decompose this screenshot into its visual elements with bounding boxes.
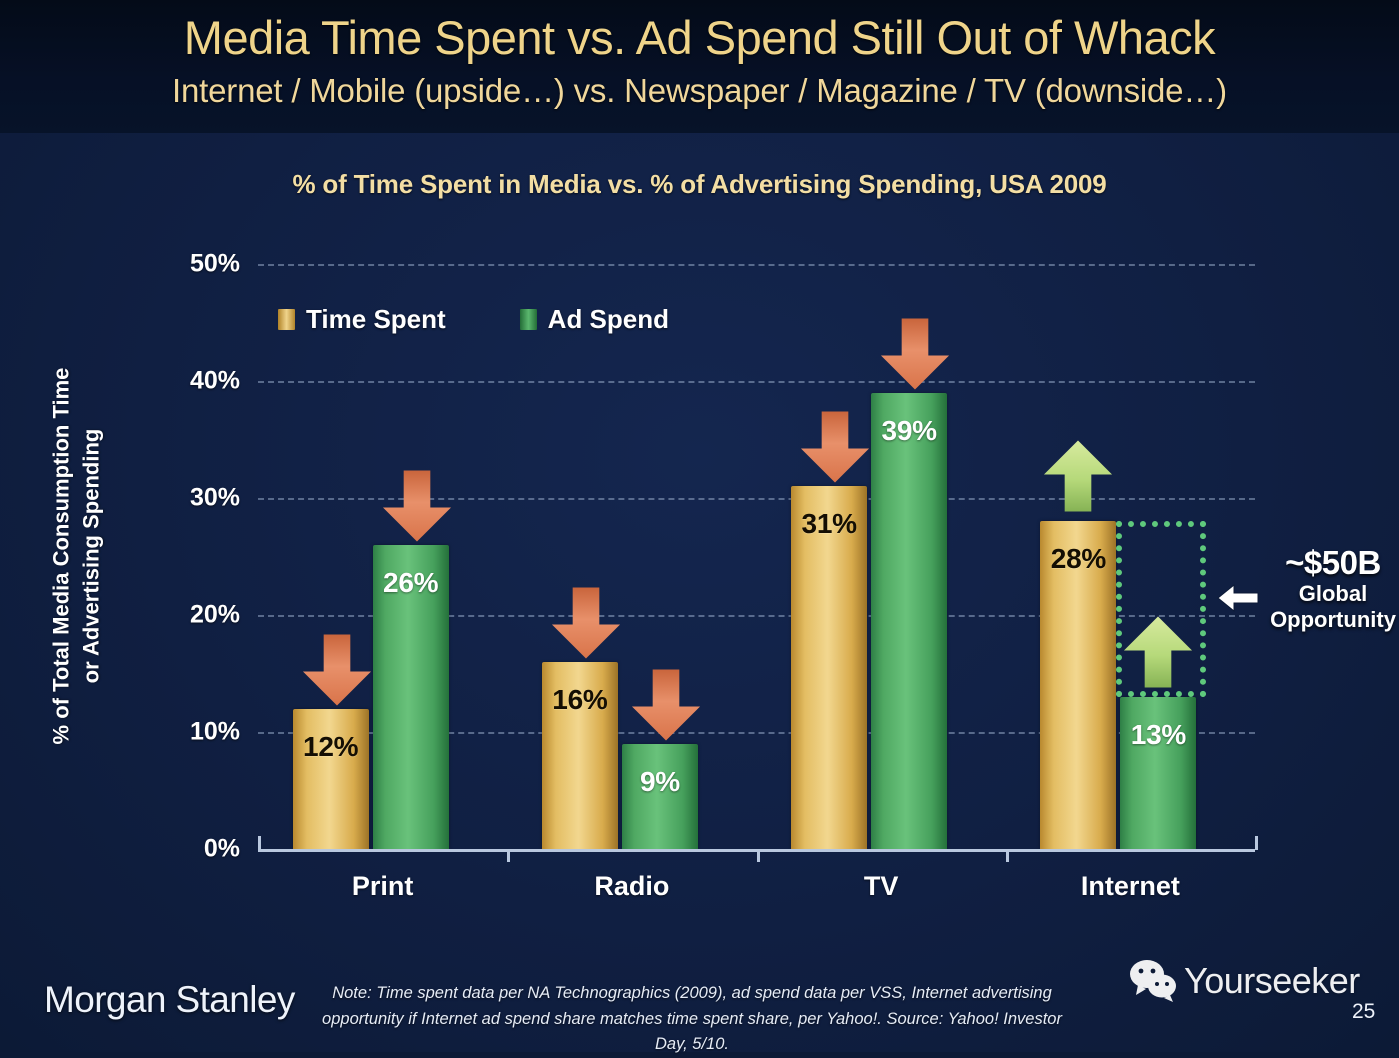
footnote-line-2: spend share matches time spent share, pe…: [505, 1010, 1062, 1054]
slide-title: Media Time Spent vs. Ad Spend Still Out …: [0, 12, 1399, 65]
legend-swatch-time-spent: [278, 309, 295, 330]
morgan-stanley-logo: Morgan Stanley: [44, 979, 295, 1021]
slide-subtitle: Internet / Mobile (upside…) vs. Newspape…: [0, 72, 1399, 110]
x-axis-label-print: Print: [352, 871, 414, 902]
callout-left-arrow-icon: [1216, 581, 1260, 620]
callout-amount: ~$50B: [1258, 546, 1399, 581]
y-tick-label-10: 10%: [120, 718, 240, 747]
chart-title: % of Time Spent in Media vs. % of Advert…: [0, 169, 1399, 200]
x-axis-tick: [1006, 849, 1009, 862]
bar-value-label: 26%: [373, 567, 449, 599]
legend-item-time-spent: Time Spent: [278, 304, 446, 335]
gridline-50: [258, 264, 1255, 266]
down-arrow-icon-tv-time-spent: [787, 410, 883, 484]
watermark: Yourseeker: [1128, 959, 1360, 1003]
chart-legend: Time Spent Ad Spend: [278, 304, 669, 335]
bar-internet-ad-spend[interactable]: 13%: [1120, 697, 1196, 849]
y-axis-title-line1: % of Total Media Consumption Time: [48, 368, 73, 745]
x-axis-label-internet: Internet: [1081, 871, 1180, 902]
down-arrow-icon-radio-ad-spend: [618, 668, 714, 742]
legend-item-ad-spend: Ad Spend: [520, 304, 669, 335]
down-arrow-icon-print-ad-spend: [369, 469, 465, 543]
y-tick-label-50: 50%: [120, 250, 240, 279]
page-number: 25: [1352, 1000, 1375, 1024]
down-arrow-icon-radio-time-spent: [538, 586, 634, 660]
x-axis-tick: [507, 849, 510, 862]
bar-value-label: 13%: [1120, 719, 1196, 751]
slide-header-band: Media Time Spent vs. Ad Spend Still Out …: [0, 0, 1399, 133]
wechat-icon: [1128, 959, 1180, 1003]
x-axis-tick: [757, 849, 760, 862]
bar-value-label: 31%: [791, 508, 867, 540]
brand-word-1: Morgan: [44, 979, 166, 1020]
bar-radio-time-spent[interactable]: 16%: [542, 662, 618, 849]
watermark-text: Yourseeker: [1184, 960, 1360, 1002]
bar-value-label: 12%: [293, 731, 369, 763]
x-axis-label-tv: TV: [864, 871, 899, 902]
y-axis-title: % of Total Media Consumption Time or Adv…: [46, 296, 105, 816]
chart-plot-area: 0%10%20%30%40%50% % of Total Media Consu…: [258, 264, 1255, 849]
bar-internet-time-spent[interactable]: 28%: [1040, 521, 1116, 849]
opportunity-callout: ~$50B Global Opportunity: [1258, 546, 1399, 633]
callout-line2: Global: [1258, 581, 1399, 607]
bar-value-label: 9%: [622, 766, 698, 798]
y-tick-label-30: 30%: [120, 484, 240, 513]
bar-print-time-spent[interactable]: 12%: [293, 709, 369, 849]
y-tick-label-0: 0%: [120, 835, 240, 864]
y-tick-label-20: 20%: [120, 601, 240, 630]
legend-swatch-ad-spend: [520, 309, 537, 330]
opportunity-gap-box: [1116, 521, 1206, 697]
footnote: Note: Time spent data per NA Technograph…: [316, 981, 1068, 1058]
x-axis-endcap-left: [258, 836, 261, 850]
x-axis-label-radio: Radio: [594, 871, 669, 902]
y-tick-label-40: 40%: [120, 367, 240, 396]
gridline-40: [258, 381, 1255, 383]
down-arrow-icon-tv-ad-spend: [867, 317, 963, 391]
legend-label-time-spent: Time Spent: [306, 304, 446, 335]
bar-value-label: 28%: [1040, 543, 1116, 575]
y-axis-title-line2: or Advertising Spending: [78, 429, 103, 684]
callout-line3: Opportunity: [1258, 607, 1399, 633]
bar-tv-time-spent[interactable]: 31%: [791, 486, 867, 849]
up-arrow-icon-internet-time-spent: [1030, 439, 1126, 513]
brand-word-2: Stanley: [176, 979, 295, 1020]
down-arrow-icon-print-time-spent: [289, 633, 385, 707]
slide-body: % of Time Spent in Media vs. % of Advert…: [0, 133, 1399, 1052]
bar-radio-ad-spend[interactable]: 9%: [622, 744, 698, 849]
legend-label-ad-spend: Ad Spend: [548, 304, 669, 335]
x-axis-endcap-right: [1255, 836, 1258, 850]
bar-value-label: 16%: [542, 684, 618, 716]
